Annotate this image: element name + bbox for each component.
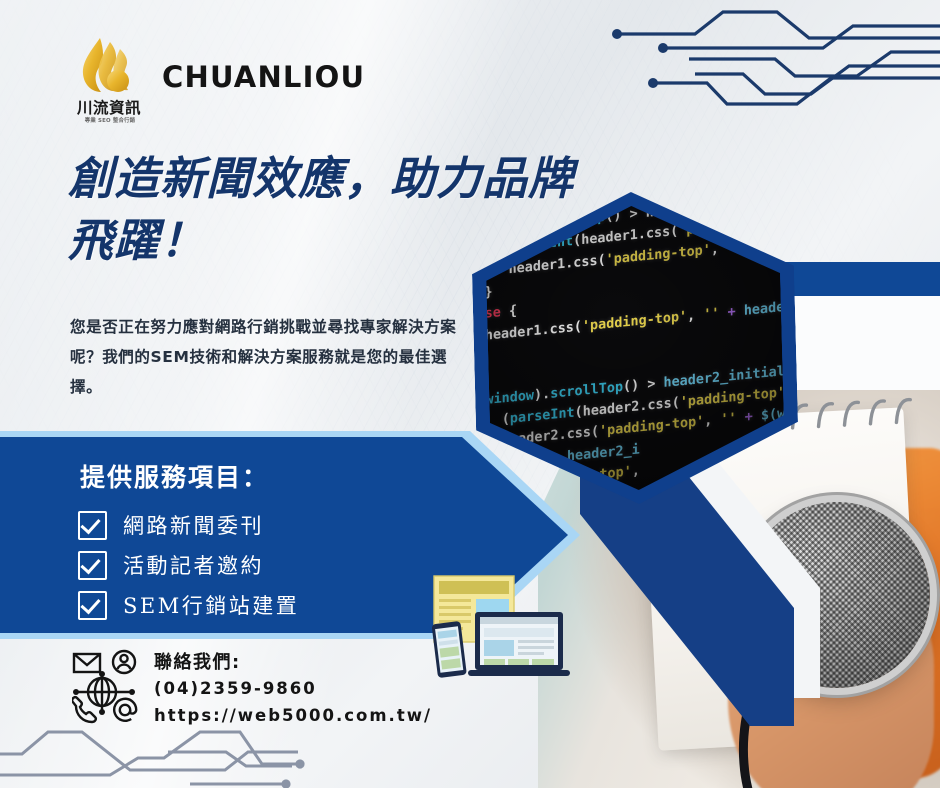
- brand-name-en: CHUANLIOU: [162, 60, 365, 94]
- brand-name-cn: 川流資訊: [70, 96, 148, 118]
- list-item: SEM行銷站建置: [78, 585, 299, 625]
- contact-block: 聯絡我們: (04)2359-9860 https://web5000.com.…: [72, 648, 432, 730]
- contact-website[interactable]: https://web5000.com.tw/: [154, 703, 432, 730]
- services-title: 提供服務項目：: [80, 458, 269, 494]
- service-label: 網路新聞委刊: [123, 510, 264, 540]
- list-item: 網路新聞委刊: [78, 505, 299, 545]
- checkbox-icon: [78, 511, 107, 540]
- brand-tagline: 專業 SEO 整合行銷: [68, 116, 152, 124]
- contact-phone[interactable]: (04)2359-9860: [154, 676, 432, 703]
- checkbox-icon: [78, 551, 107, 580]
- at-sign-icon: [114, 699, 136, 721]
- contact-icons-group: [72, 648, 138, 726]
- service-label: SEM行銷站建置: [123, 590, 299, 620]
- laptop-phone-article-icon: [420, 572, 582, 682]
- checkbox-icon: [78, 591, 107, 620]
- promo-poster: (window).scrollTop() > header1_i if (par…: [0, 0, 940, 788]
- flame-logo-icon: 川流資訊 專業 SEO 整合行銷: [70, 36, 142, 124]
- brand-logo[interactable]: 川流資訊 專業 SEO 整合行銷 CHUANLIOU: [70, 36, 365, 124]
- contact-heading: 聯絡我們:: [154, 650, 432, 676]
- contact-text: 聯絡我們: (04)2359-9860 https://web5000.com.…: [154, 648, 432, 730]
- list-item: 活動記者邀約: [78, 545, 299, 585]
- services-list: 網路新聞委刊 活動記者邀約 SEM行銷站建置: [78, 505, 299, 625]
- page-title: 創造新聞效應，助力品牌飛躍！: [68, 148, 608, 272]
- intro-paragraph: 您是否正在努力應對網路行銷挑戰並尋找專家解決方案呢？我們的SEM技術和解決方案服…: [70, 312, 470, 403]
- service-label: 活動記者邀約: [123, 550, 264, 580]
